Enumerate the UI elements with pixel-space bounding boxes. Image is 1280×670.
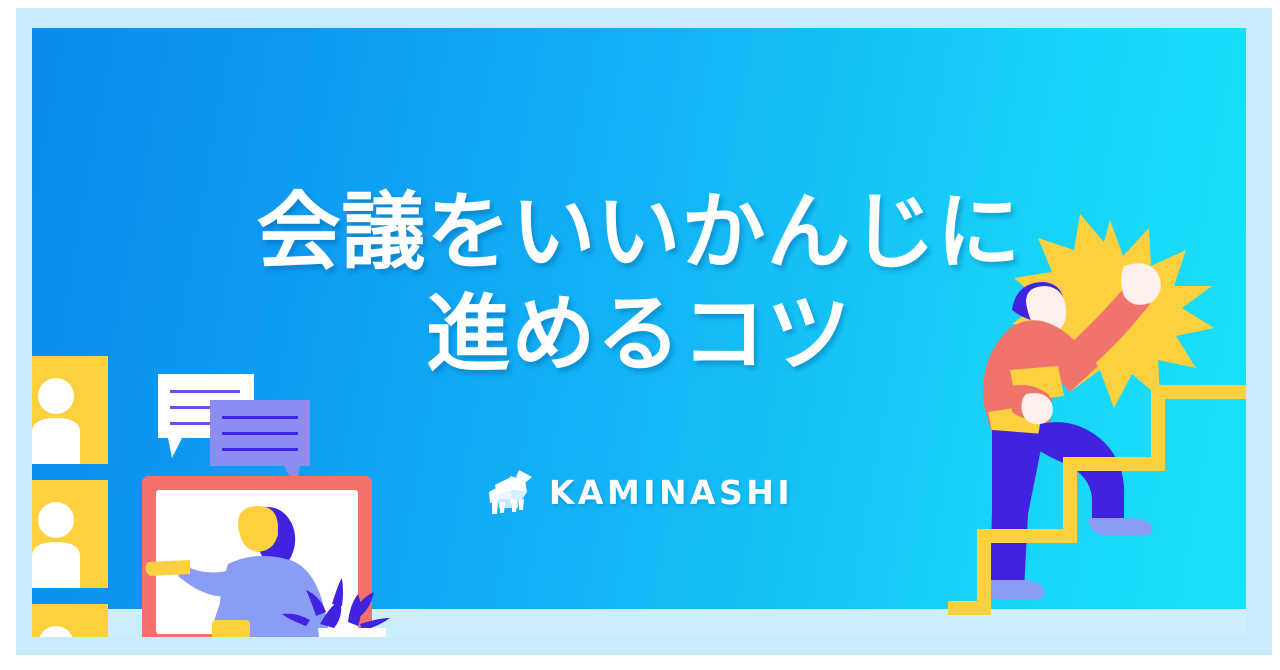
gradient-panel: 会議をいいかんじに 進めるコツ <box>32 28 1246 637</box>
title-line-2: 進めるコツ <box>32 285 1246 385</box>
page-title: 会議をいいかんじに 進めるコツ <box>32 183 1246 385</box>
title-line-1: 会議をいいかんじに <box>32 183 1246 283</box>
brand-name: KAMINASHI <box>549 476 793 509</box>
goat-logo-icon <box>485 468 537 516</box>
brand-logo: KAMINASHI <box>32 468 1246 516</box>
person-silhouette-icon <box>32 378 80 464</box>
avatar-card-3 <box>32 604 108 637</box>
hero-banner: 会議をいいかんじに 進めるコツ <box>0 0 1280 670</box>
